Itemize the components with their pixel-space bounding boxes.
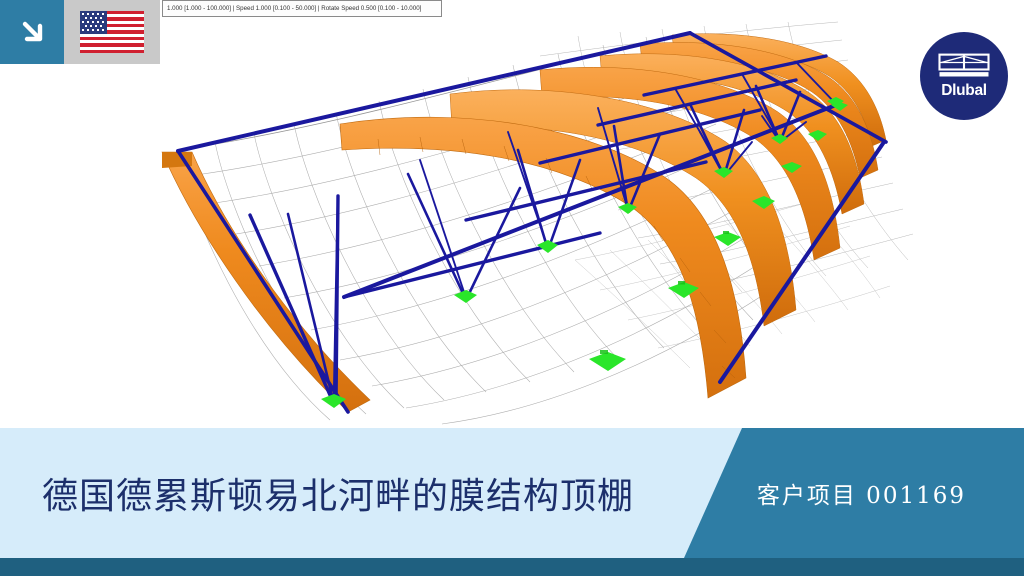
truss-frame-icon [937, 52, 991, 80]
status-bar: 1.000 [1.000 - 100.000] | Speed 1.000 [0… [162, 0, 442, 17]
caption-band: 德国德累斯顿易北河畔的膜结构顶棚 客户项目 001169 [0, 428, 1024, 558]
language-flag-button[interactable] [64, 0, 160, 64]
download-button[interactable] [0, 0, 64, 64]
top-overlay-bar [0, 0, 160, 64]
bottom-strip [0, 558, 1024, 576]
dlubal-logo[interactable]: Dlubal [920, 32, 1008, 120]
arrow-down-right-icon [17, 17, 47, 47]
dlubal-wordmark: Dlubal [941, 82, 987, 100]
united-states-flag-icon [80, 11, 144, 53]
project-reference: 客户项目 001169 [757, 428, 966, 558]
project-title: 德国德累斯顿易北河畔的膜结构顶棚 [42, 428, 634, 558]
